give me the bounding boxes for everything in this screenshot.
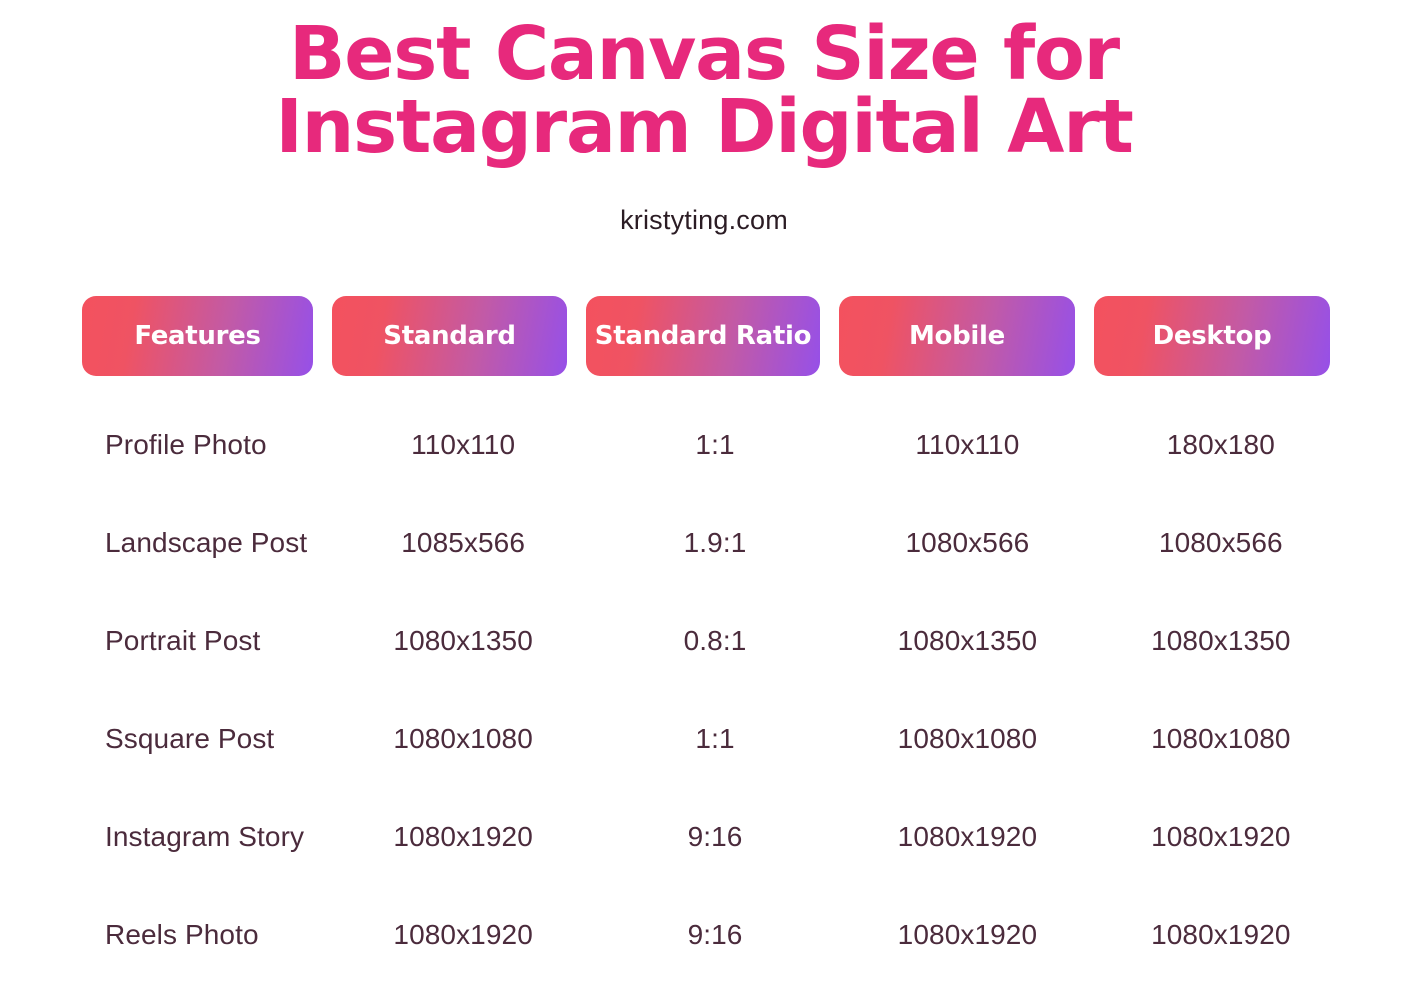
cell-mobile: 1080x1080 — [850, 723, 1084, 755]
column-header-features: Features — [82, 296, 313, 376]
cell-standard: 1080x1350 — [346, 625, 579, 657]
cell-mobile: 1080x566 — [850, 527, 1084, 559]
table-row: Ssquare Post 1080x1080 1:1 1080x1080 108… — [82, 690, 1338, 788]
cell-standard-ratio: 1:1 — [599, 723, 831, 755]
table-row: Profile Photo 110x110 1:1 110x110 180x18… — [82, 396, 1338, 494]
cell-standard: 1085x566 — [346, 527, 579, 559]
cell-mobile: 110x110 — [850, 429, 1084, 461]
column-header-standard-ratio: Standard Ratio — [586, 296, 820, 376]
column-header-label: Standard Ratio — [595, 321, 811, 351]
column-header-label: Standard — [383, 321, 515, 351]
cell-desktop: 180x180 — [1104, 429, 1338, 461]
cell-feature: Reels Photo — [82, 917, 330, 954]
cell-feature: Landscape Post — [82, 525, 330, 562]
cell-standard-ratio: 1:1 — [599, 429, 831, 461]
column-header-desktop: Desktop — [1094, 296, 1330, 376]
column-header-label: Desktop — [1153, 321, 1272, 351]
title-block: Best Canvas Size for Instagram Digital A… — [0, 0, 1408, 236]
cell-standard-ratio: 9:16 — [599, 919, 831, 951]
cell-feature: Instagram Story — [82, 819, 330, 856]
cell-standard: 110x110 — [346, 429, 579, 461]
table-row: Portrait Post 1080x1350 0.8:1 1080x1350 … — [82, 592, 1338, 690]
column-header-mobile: Mobile — [839, 296, 1075, 376]
table-row: Instagram Story 1080x1920 9:16 1080x1920… — [82, 788, 1338, 886]
cell-standard: 1080x1920 — [346, 821, 579, 853]
cell-feature: Ssquare Post — [82, 721, 330, 758]
table-row: Landscape Post 1085x566 1.9:1 1080x566 1… — [82, 494, 1338, 592]
table-row: Reels Photo 1080x1920 9:16 1080x1920 108… — [82, 886, 1338, 984]
column-header-label: Features — [134, 321, 260, 351]
cell-desktop: 1080x1920 — [1104, 919, 1338, 951]
cell-standard-ratio: 0.8:1 — [599, 625, 831, 657]
column-header-standard: Standard — [332, 296, 567, 376]
table-header-row: Features Standard Standard Ratio Mobile … — [82, 296, 1338, 376]
cell-mobile: 1080x1920 — [850, 821, 1084, 853]
cell-desktop: 1080x1350 — [1104, 625, 1338, 657]
infographic-canvas: Best Canvas Size for Instagram Digital A… — [0, 0, 1408, 981]
cell-standard: 1080x1080 — [346, 723, 579, 755]
cell-mobile: 1080x1350 — [850, 625, 1084, 657]
cell-standard-ratio: 1.9:1 — [599, 527, 831, 559]
cell-standard-ratio: 9:16 — [599, 821, 831, 853]
cell-feature: Portrait Post — [82, 623, 330, 660]
column-header-label: Mobile — [909, 321, 1005, 351]
cell-feature: Profile Photo — [82, 427, 330, 464]
table-body: Profile Photo 110x110 1:1 110x110 180x18… — [82, 396, 1338, 984]
cell-desktop: 1080x1080 — [1104, 723, 1338, 755]
cell-mobile: 1080x1920 — [850, 919, 1084, 951]
site-attribution: kristyting.com — [0, 205, 1408, 236]
cell-desktop: 1080x566 — [1104, 527, 1338, 559]
cell-desktop: 1080x1920 — [1104, 821, 1338, 853]
cell-standard: 1080x1920 — [346, 919, 579, 951]
page-title: Best Canvas Size for Instagram Digital A… — [54, 18, 1354, 163]
